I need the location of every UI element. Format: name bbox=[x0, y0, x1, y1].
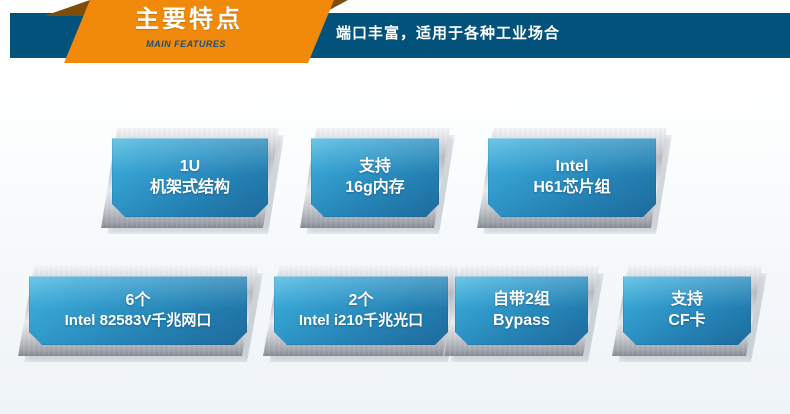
card-line-2: 机架式结构 bbox=[150, 178, 230, 198]
card-blue-panel: 6个 Intel 82583V千兆网口 bbox=[29, 276, 247, 345]
card-line-1: 自带2组 bbox=[493, 290, 550, 310]
feature-card-memory: 支持 16g内存 bbox=[300, 128, 450, 228]
card-line-2: Intel 82583V千兆网口 bbox=[65, 311, 212, 330]
card-line-2: CF卡 bbox=[668, 311, 705, 331]
card-line-1: 1U bbox=[180, 157, 200, 177]
feature-card-fiber-ports: 2个 Intel i210千兆光口 bbox=[263, 266, 459, 356]
card-line-2: 16g内存 bbox=[345, 178, 405, 198]
feature-card-chipset: Intel H61芯片组 bbox=[477, 128, 667, 228]
card-line-1: 支持 bbox=[359, 157, 391, 177]
card-line-2: Bypass bbox=[493, 311, 550, 331]
feature-card-bypass: 自带2组 Bypass bbox=[444, 266, 599, 356]
card-line-1: 支持 bbox=[671, 290, 703, 310]
page-header: 主要特点 MAIN FEATURES 端口丰富，适用于各种工业场合 bbox=[0, 0, 790, 72]
feature-card-cf-card: 支持 CF卡 bbox=[612, 266, 762, 356]
card-line-1: 6个 bbox=[126, 291, 151, 311]
card-blue-panel: 2个 Intel i210千兆光口 bbox=[274, 276, 448, 345]
feature-card-lan-ports: 6个 Intel 82583V千兆网口 bbox=[18, 266, 258, 356]
card-blue-panel: 支持 CF卡 bbox=[623, 276, 751, 345]
feature-card-1u: 1U 机架式结构 bbox=[101, 128, 279, 228]
page-subtitle-en: MAIN FEATURES bbox=[44, 39, 328, 49]
feature-row-2: 6个 Intel 82583V千兆网口 2个 Intel i210千兆光口 自带… bbox=[0, 266, 790, 362]
card-blue-panel: Intel H61芯片组 bbox=[488, 138, 656, 217]
feature-row-1: 1U 机架式结构 支持 16g内存 Intel H61芯片组 bbox=[0, 128, 790, 232]
card-line-2: Intel i210千兆光口 bbox=[299, 311, 423, 330]
card-blue-panel: 支持 16g内存 bbox=[311, 138, 439, 217]
page-title: 主要特点 bbox=[44, 6, 334, 34]
card-blue-panel: 1U 机架式结构 bbox=[112, 138, 268, 217]
card-line-1: Intel bbox=[556, 157, 589, 177]
card-line-1: 2个 bbox=[349, 291, 374, 311]
card-blue-panel: 自带2组 Bypass bbox=[455, 276, 588, 345]
card-line-2: H61芯片组 bbox=[533, 178, 610, 198]
header-tagline: 端口丰富，适用于各种工业场合 bbox=[336, 22, 560, 43]
